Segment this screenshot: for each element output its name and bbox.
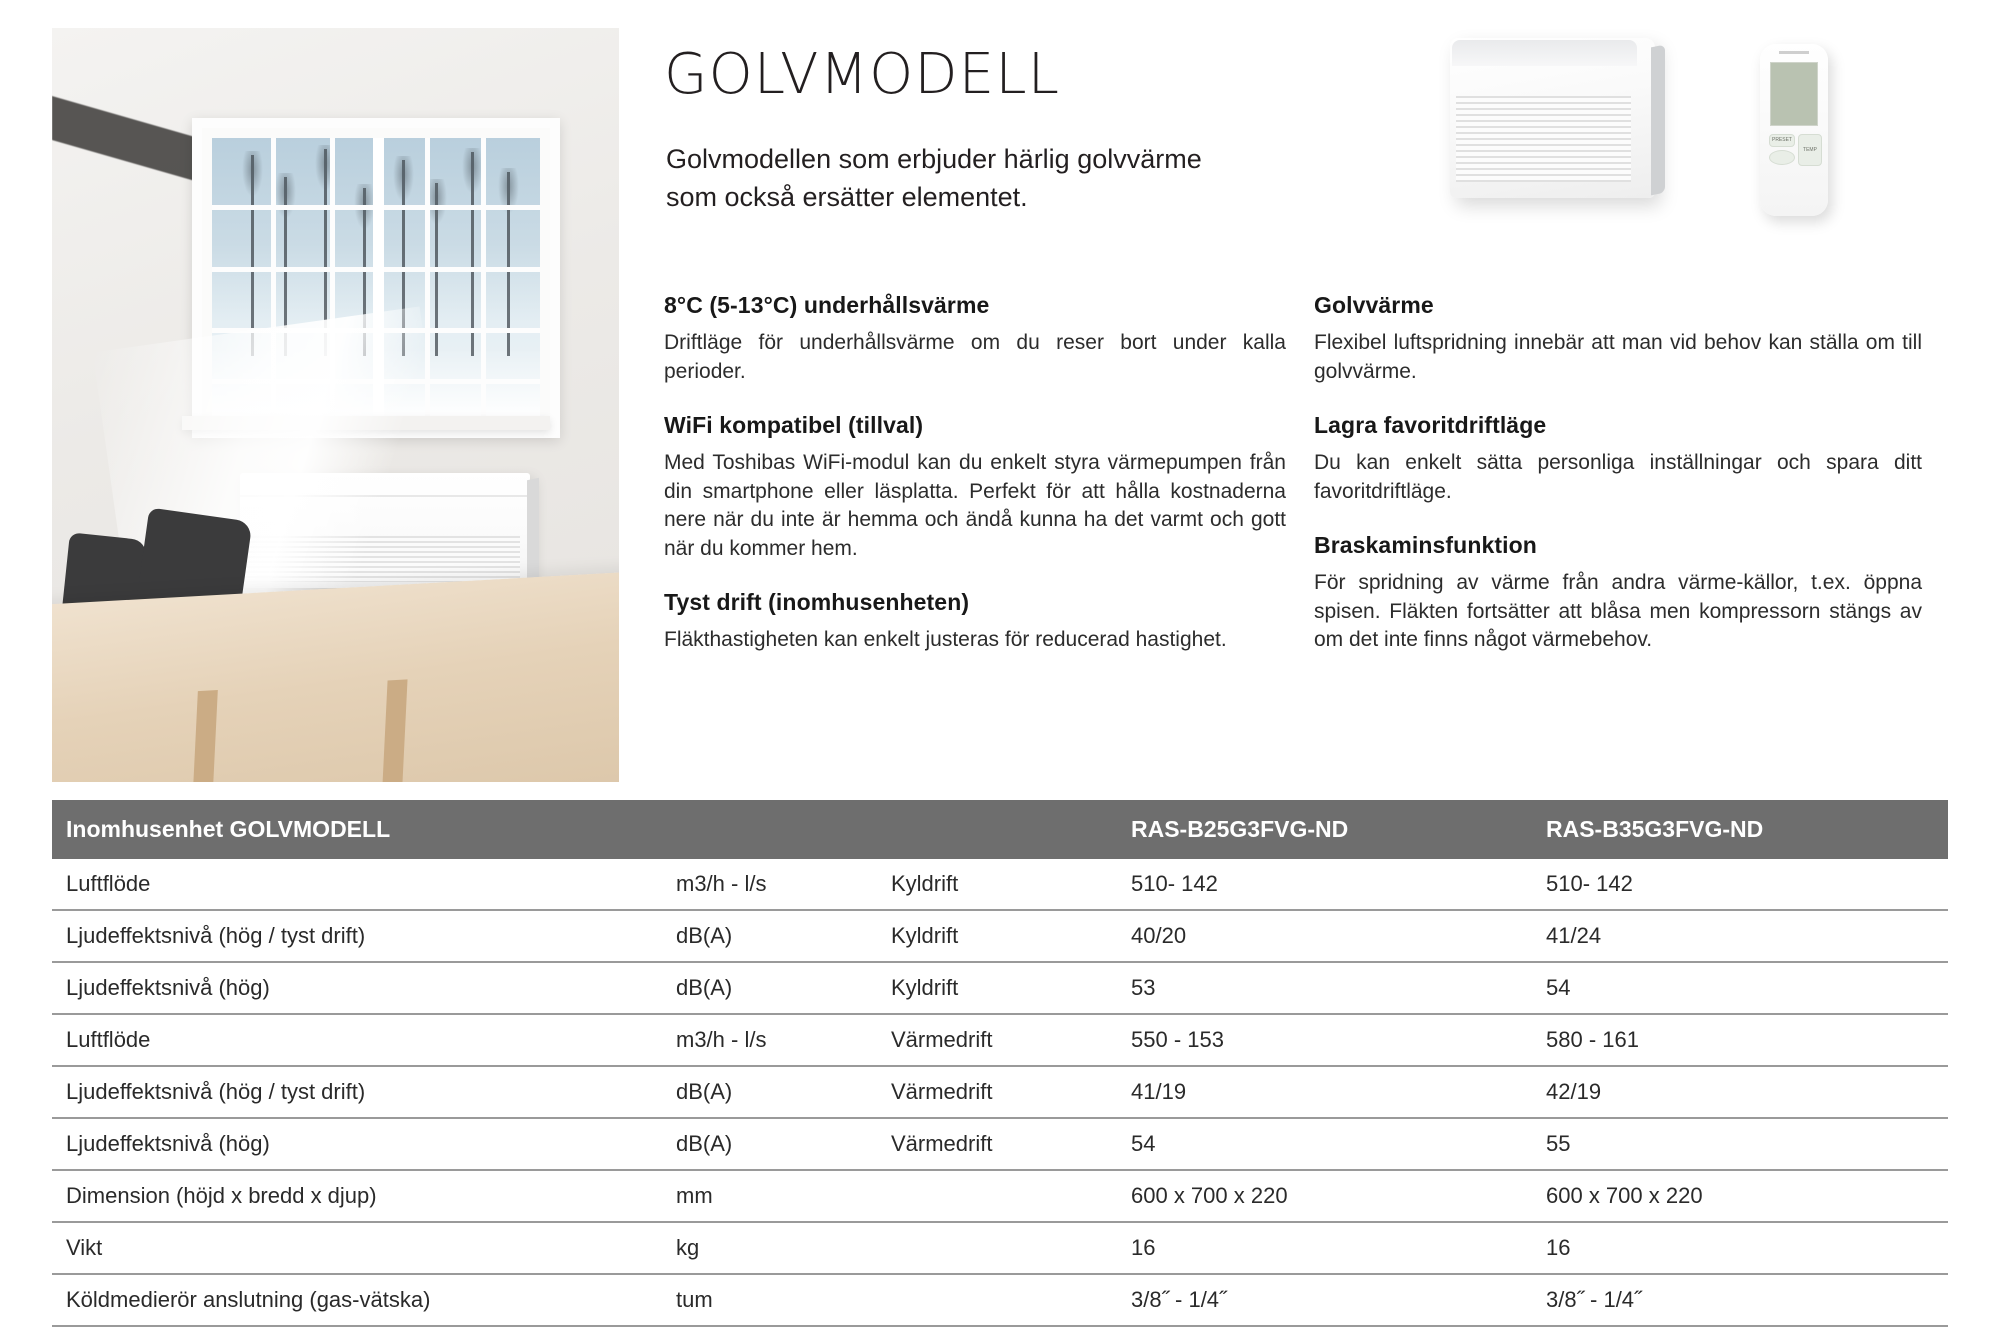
table-row: Ljudeffektsnivå (hög / tyst drift)dB(A)K… — [52, 910, 1948, 962]
spec-cell-value-model-1: 600 x 700 x 220 — [1117, 1170, 1532, 1222]
feature-block-fireplace-function: Braskaminsfunktion För spridning av värm… — [1314, 532, 1922, 655]
indoor-unit-photo — [1450, 38, 1655, 198]
feature-heading: 8°C (5-13°C) underhållsvärme — [664, 292, 1286, 319]
feature-body: För spridning av värme från andra värme-… — [1314, 569, 1922, 655]
spec-cell-value-model-2: 510- 142 — [1532, 859, 1948, 910]
header-cell-name: Inomhusenhet GOLVMODELL — [52, 800, 662, 859]
spec-cell-mode: Värmedrift — [877, 1014, 1117, 1066]
spec-cell-value-model-1: 41/19 — [1117, 1066, 1532, 1118]
spec-cell-label: Dimension (höjd x bredd x djup) — [52, 1170, 662, 1222]
spec-cell-label: Luftflöde — [52, 1014, 662, 1066]
spec-cell-label: Köldmedierör anslutning (gas-vätska) — [52, 1274, 662, 1326]
feature-block-maintenance-heat: 8°C (5-13°C) underhållsvärme Driftläge f… — [664, 292, 1286, 386]
spec-cell-unit: dB(A) — [662, 910, 877, 962]
table-row: Ljudeffektsnivå (hög / tyst drift)dB(A)V… — [52, 1066, 1948, 1118]
spec-cell-value-model-2: 54 — [1532, 962, 1948, 1014]
feature-block-favourite-mode: Lagra favoritdriftläge Du kan enkelt sät… — [1314, 412, 1922, 506]
spec-cell-value-model-2: 580 - 161 — [1532, 1014, 1948, 1066]
feature-heading: Tyst drift (inomhusenheten) — [664, 589, 1286, 616]
page-subtitle: Golvmodellen som erbjuder härlig golvvär… — [666, 140, 1246, 217]
air-louvre — [1456, 96, 1631, 182]
feature-body: Fläkthastigheten kan enkelt justeras för… — [664, 626, 1286, 655]
feature-body: Med Toshibas WiFi-modul kan du enkelt st… — [664, 449, 1286, 563]
spec-cell-mode: Värmedrift — [877, 1118, 1117, 1170]
spec-cell-label: Luftflöde — [52, 859, 662, 910]
feature-block-floor-heating: Golvvärme Flexibel luftspridning innebär… — [1314, 292, 1922, 386]
spec-cell-mode: Kyldrift — [877, 910, 1117, 962]
specification-table: Inomhusenhet GOLVMODELL RAS-B25G3FVG-ND … — [52, 800, 1948, 1327]
product-photo-group: PRESET TEMP — [1430, 10, 1990, 235]
spec-cell-value-model-2: 3/8˝ - 1/4˝ — [1532, 1274, 1948, 1326]
spec-cell-value-model-2: 42/19 — [1532, 1066, 1948, 1118]
spec-cell-label: Ljudeffektsnivå (hög) — [52, 962, 662, 1014]
table-row: Köldmedierör anslutning (gas-vätska)tum3… — [52, 1274, 1948, 1326]
spec-cell-value-model-1: 40/20 — [1117, 910, 1532, 962]
spec-cell-value-model-2: 16 — [1532, 1222, 1948, 1274]
spec-cell-mode: Kyldrift — [877, 859, 1117, 910]
table-row: Ljudeffektsnivå (hög)dB(A)Kyldrift5354 — [52, 962, 1948, 1014]
spec-cell-unit: m3/h - l/s — [662, 1014, 877, 1066]
temp-up-down-button[interactable]: TEMP — [1798, 134, 1822, 166]
table-row: Luftflödem3/h - l/sKyldrift510- 142510- … — [52, 859, 1948, 910]
window-glass — [212, 138, 540, 418]
spec-cell-unit: tum — [662, 1274, 877, 1326]
spec-cell-mode — [877, 1274, 1117, 1326]
table-row: Luftflödem3/h - l/sVärmedrift550 - 15358… — [52, 1014, 1948, 1066]
header-cell-unit — [662, 800, 877, 859]
feature-heading: Lagra favoritdriftläge — [1314, 412, 1922, 439]
spec-cell-unit: dB(A) — [662, 1118, 877, 1170]
power-button[interactable] — [1769, 150, 1795, 165]
spec-cell-value-model-2: 600 x 700 x 220 — [1532, 1170, 1948, 1222]
spec-cell-value-model-2: 41/24 — [1532, 910, 1948, 962]
preset-button[interactable]: PRESET — [1769, 134, 1795, 147]
spec-cell-unit: kg — [662, 1222, 877, 1274]
window-frame — [192, 118, 560, 438]
spec-cell-value-model-1: 53 — [1117, 962, 1532, 1014]
spec-cell-label: Ljudeffektsnivå (hög / tyst drift) — [52, 910, 662, 962]
feature-heading: Golvvärme — [1314, 292, 1922, 319]
table-row: Viktkg1616 — [52, 1222, 1948, 1274]
feature-block-wifi: WiFi kompatibel (tillval) Med Toshibas W… — [664, 412, 1286, 563]
header-cell-mode — [877, 800, 1117, 859]
dining-table — [52, 568, 619, 782]
header-cell-model-1: RAS-B25G3FVG-ND — [1117, 800, 1532, 859]
feature-block-quiet-operation: Tyst drift (inomhusenheten) Fläkthastigh… — [664, 589, 1286, 655]
feature-body: Du kan enkelt sätta personliga inställni… — [1314, 449, 1922, 506]
spec-cell-unit: mm — [662, 1170, 877, 1222]
spec-cell-label: Vikt — [52, 1222, 662, 1274]
remote-brand-logo — [1779, 51, 1809, 54]
spec-cell-unit: dB(A) — [662, 962, 877, 1014]
spec-cell-value-model-1: 510- 142 — [1117, 859, 1532, 910]
feature-body: Flexibel luftspridning innebär att man v… — [1314, 329, 1922, 386]
table-row: Dimension (höjd x bredd x djup)mm600 x 7… — [52, 1170, 1948, 1222]
spec-cell-value-model-1: 54 — [1117, 1118, 1532, 1170]
window-sill — [182, 416, 550, 430]
floor-mounted-indoor-unit — [240, 473, 530, 588]
spec-cell-mode — [877, 1170, 1117, 1222]
spec-cell-unit: dB(A) — [662, 1066, 877, 1118]
spec-cell-value-model-2: 55 — [1532, 1118, 1948, 1170]
table-row: Ljudeffektsnivå (hög)dB(A)Värmedrift5455 — [52, 1118, 1948, 1170]
feature-heading: Braskaminsfunktion — [1314, 532, 1922, 559]
spec-cell-mode — [877, 1222, 1117, 1274]
spec-cell-value-model-1: 3/8˝ - 1/4˝ — [1117, 1274, 1532, 1326]
page-title: GOLVMODELL — [664, 42, 1060, 107]
spec-cell-mode: Kyldrift — [877, 962, 1117, 1014]
features-column-left: 8°C (5-13°C) underhållsvärme Driftläge f… — [664, 292, 1286, 655]
spec-cell-label: Ljudeffektsnivå (hög) — [52, 1118, 662, 1170]
remote-lcd-screen — [1770, 62, 1818, 126]
features-column-right: Golvvärme Flexibel luftspridning innebär… — [1314, 292, 1922, 655]
product-datasheet-page: PRESET TEMP GOLVMODELL Golvmodellen som … — [0, 0, 2000, 1321]
spec-cell-unit: m3/h - l/s — [662, 859, 877, 910]
spec-cell-label: Ljudeffektsnivå (hög / tyst drift) — [52, 1066, 662, 1118]
table-header-row: Inomhusenhet GOLVMODELL RAS-B25G3FVG-ND … — [52, 800, 1948, 859]
spec-cell-value-model-1: 550 - 153 — [1117, 1014, 1532, 1066]
remote-control-photo: PRESET TEMP — [1760, 44, 1828, 216]
feature-body: Driftläge för underhållsvärme om du rese… — [664, 329, 1286, 386]
feature-heading: WiFi kompatibel (tillval) — [664, 412, 1286, 439]
spec-cell-value-model-1: 16 — [1117, 1222, 1532, 1274]
header-cell-model-2: RAS-B35G3FVG-ND — [1532, 800, 1948, 859]
spec-cell-mode: Värmedrift — [877, 1066, 1117, 1118]
room-scene-photo — [52, 28, 619, 782]
